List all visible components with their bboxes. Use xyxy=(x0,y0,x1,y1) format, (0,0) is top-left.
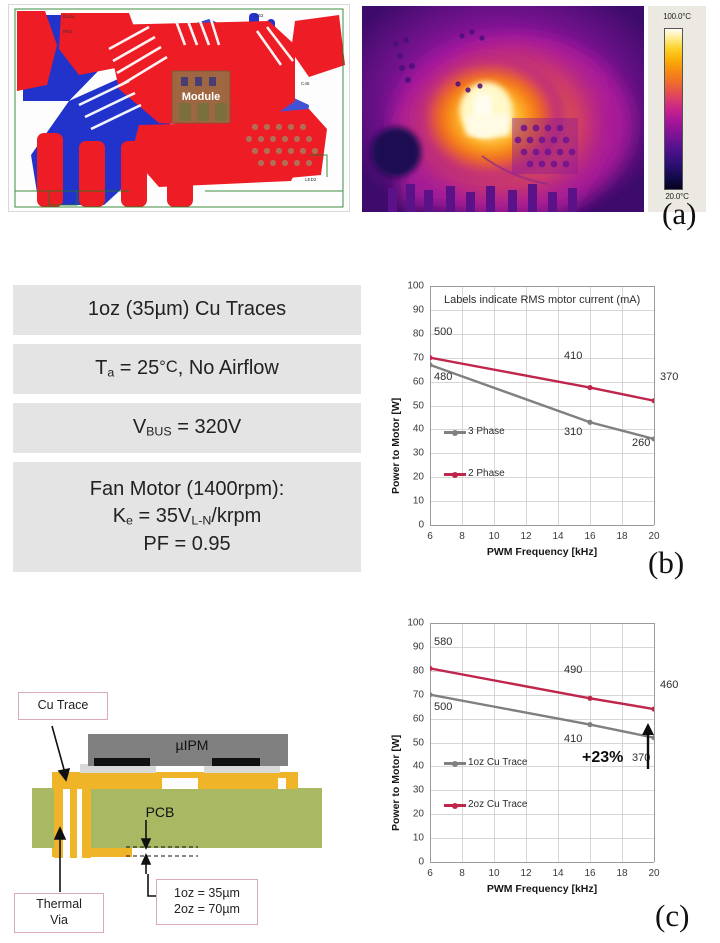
y-axis-tick-label: 30 xyxy=(398,448,424,459)
svg-text:PCB: PCB xyxy=(146,804,175,820)
svg-text:RL2a: RL2a xyxy=(63,14,74,19)
ke-unit: /krpm xyxy=(211,505,261,527)
x-axis-tick-label: 16 xyxy=(578,868,602,879)
y-axis-tick-label: 20 xyxy=(398,809,424,820)
series-point-label: 500 xyxy=(434,326,452,338)
series-line xyxy=(430,358,654,401)
callout-cu-trace-label: Cu Trace xyxy=(38,698,89,714)
spec-row-ambient-temp: Ta = 25°C, No Airflow xyxy=(13,344,361,394)
chart-series-layer xyxy=(430,286,654,525)
y-axis-tick-label: 80 xyxy=(398,665,424,676)
x-axis-tick-label: 20 xyxy=(642,868,666,879)
callout-copper-thickness: 1oz = 35µm 2oz = 70µm xyxy=(156,879,258,925)
x-axis-tick-label: 18 xyxy=(610,868,634,879)
y-axis-tick-label: 90 xyxy=(398,304,424,315)
series-data-point xyxy=(587,420,592,425)
series-line xyxy=(430,365,654,439)
vbus-subscript: BUS xyxy=(146,425,171,439)
ta-airflow-text: , No Airflow xyxy=(178,357,279,379)
x-axis-tick-label: 10 xyxy=(482,868,506,879)
x-axis-tick-label: 18 xyxy=(610,531,634,542)
series-point-label: 460 xyxy=(660,679,678,691)
series-point-label: 480 xyxy=(434,371,452,383)
x-axis-tick-label: 12 xyxy=(514,531,538,542)
axis-line-bottom xyxy=(430,525,654,526)
series-data-point xyxy=(651,436,654,441)
y-axis-tick-label: 70 xyxy=(398,352,424,363)
panel-label-c: (c) xyxy=(655,898,689,934)
x-axis-tick-label: 6 xyxy=(418,531,442,542)
legend-marker xyxy=(452,430,458,436)
svg-text:C45: C45 xyxy=(301,81,310,86)
series-point-label: 410 xyxy=(564,350,582,362)
series-point-label: 260 xyxy=(632,437,650,449)
series-data-point xyxy=(651,398,654,403)
y-axis-tick-label: 10 xyxy=(398,833,424,844)
callout-thermal-via: Thermal Via xyxy=(14,893,104,933)
spec-text-cu-traces: 1oz (35µm) Cu Traces xyxy=(88,296,286,324)
series-point-label: 490 xyxy=(564,664,582,676)
y-axis-tick-label: 100 xyxy=(398,281,424,292)
degree-celsius-symbol: °C xyxy=(159,358,177,376)
improvement-arrow-icon xyxy=(640,723,656,771)
y-axis-tick-label: 50 xyxy=(398,737,424,748)
series-point-label: 580 xyxy=(434,636,452,648)
spec-text-power-factor: PF = 0.95 xyxy=(143,531,230,559)
y-axis-tick-label: 20 xyxy=(398,472,424,483)
y-axis-tick-label: 100 xyxy=(398,618,424,629)
series-data-point xyxy=(587,385,592,390)
ta-symbol: T xyxy=(95,357,107,379)
legend-label: 1oz Cu Trace xyxy=(468,757,527,768)
spec-row-cu-traces: 1oz (35µm) Cu Traces xyxy=(13,285,361,335)
legend-label: 3 Phase xyxy=(468,426,505,437)
spec-row-bus-voltage: VBUS = 320V xyxy=(13,403,361,453)
pcb-layout-image: Module RL2aRK3 C62C45 LED2 xyxy=(8,4,350,212)
improvement-annotation: +23% xyxy=(582,749,623,767)
series-line xyxy=(430,668,654,709)
x-axis-tick-label: 14 xyxy=(546,531,570,542)
chart-c-plot-area: 6810121416182001020304050607080901005004… xyxy=(430,623,654,862)
x-axis-tick-label: 10 xyxy=(482,531,506,542)
axis-line-right xyxy=(654,286,655,525)
y-axis-tick-label: 60 xyxy=(398,376,424,387)
chart-power-vs-pwm-phase: Power to Motor [W] 681012141618200102030… xyxy=(386,278,686,540)
series-data-point xyxy=(587,696,592,701)
svg-text:µIPM: µIPM xyxy=(176,737,209,753)
y-axis-tick-label: 40 xyxy=(398,761,424,772)
vbus-symbol: V xyxy=(133,416,146,438)
ke-ln-subscript: L-N xyxy=(191,514,211,528)
pcb-cross-section-diagram: µIPM PCB Cu Trace Thermal Via 1oz xyxy=(8,660,360,938)
y-axis-tick-label: 0 xyxy=(398,520,424,531)
series-point-label: 310 xyxy=(564,426,582,438)
y-axis-tick-label: 90 xyxy=(398,641,424,652)
spec-text-ke: Ke = 35VL-N/krpm xyxy=(113,503,262,531)
spec-text-fan-motor: Fan Motor (1400rpm): xyxy=(90,476,285,504)
panel-label-b: (b) xyxy=(648,545,684,581)
x-axis-tick-label: 6 xyxy=(418,868,442,879)
legend-label: 2 Phase xyxy=(468,468,505,479)
x-axis-tick-label: 14 xyxy=(546,868,570,879)
chart-b-x-axis-label: PWM Frequency [kHz] xyxy=(430,546,654,558)
chart-series-layer xyxy=(430,623,654,862)
series-data-point xyxy=(651,706,654,711)
x-axis-tick-label: 20 xyxy=(642,531,666,542)
y-axis-tick-label: 60 xyxy=(398,713,424,724)
ke-subscript: e xyxy=(126,514,133,528)
x-axis-tick-label: 8 xyxy=(450,531,474,542)
ke-symbol: K xyxy=(113,505,126,527)
legend-marker xyxy=(452,472,458,478)
series-data-point xyxy=(587,722,592,727)
chart-c-x-axis-label: PWM Frequency [kHz] xyxy=(430,883,654,895)
x-axis-tick-label: 12 xyxy=(514,868,538,879)
spec-row-fan-motor: Fan Motor (1400rpm): Ke = 35VL-N/krpm PF… xyxy=(13,462,361,572)
legend-marker xyxy=(452,803,458,809)
thermal-colorbar: 100.0°C 20.0°C xyxy=(648,6,706,212)
colorbar-max-label: 100.0°C xyxy=(648,12,706,21)
chart-power-vs-pwm-cu-thickness: Power to Motor [W] 681012141618200102030… xyxy=(386,615,686,897)
y-axis-tick-label: 10 xyxy=(398,496,424,507)
callout-thermal-via-line2: Via xyxy=(50,913,68,929)
series-data-point xyxy=(430,666,433,671)
callout-thermal-via-line1: Thermal xyxy=(36,897,82,913)
series-data-point xyxy=(430,355,433,360)
y-axis-tick-label: 50 xyxy=(398,400,424,411)
ke-value: = 35V xyxy=(133,505,191,527)
colorbar-gradient-strip xyxy=(664,28,683,190)
series-point-label: 370 xyxy=(660,371,678,383)
legend-label: 2oz Cu Trace xyxy=(468,799,527,810)
axis-line-bottom xyxy=(430,862,654,863)
ta-value: = 25 xyxy=(114,357,159,379)
y-axis-tick-label: 70 xyxy=(398,689,424,700)
svg-text:C62: C62 xyxy=(255,13,264,18)
series-point-label: 410 xyxy=(564,733,582,745)
x-axis-tick-label: 16 xyxy=(578,531,602,542)
series-point-label: 500 xyxy=(434,701,452,713)
svg-text:RK3: RK3 xyxy=(63,29,72,34)
series-line xyxy=(430,695,654,738)
thermal-ir-image xyxy=(362,6,644,212)
spec-text-vbus: VBUS = 320V xyxy=(133,414,241,442)
chart-b-plot-area: 6810121416182001020304050607080901004803… xyxy=(430,286,654,525)
y-axis-tick-label: 80 xyxy=(398,328,424,339)
vbus-value: = 320V xyxy=(172,416,242,438)
callout-thickness-2oz: 2oz = 70µm xyxy=(174,902,240,918)
chart-b-title-note: Labels indicate RMS motor current (mA) xyxy=(444,294,640,306)
legend-marker xyxy=(452,761,458,767)
y-axis-tick-label: 40 xyxy=(398,424,424,435)
spec-text-ambient: Ta = 25°C, No Airflow xyxy=(95,355,279,383)
callout-cu-trace: Cu Trace xyxy=(18,692,108,720)
y-axis-tick-label: 30 xyxy=(398,785,424,796)
series-data-point xyxy=(430,692,433,697)
svg-text:Module: Module xyxy=(182,91,221,103)
svg-text:LED2: LED2 xyxy=(305,177,317,182)
y-axis-tick-label: 0 xyxy=(398,857,424,868)
callout-thickness-1oz: 1oz = 35µm xyxy=(174,886,240,902)
panel-label-a: (a) xyxy=(662,196,696,232)
x-axis-tick-label: 8 xyxy=(450,868,474,879)
